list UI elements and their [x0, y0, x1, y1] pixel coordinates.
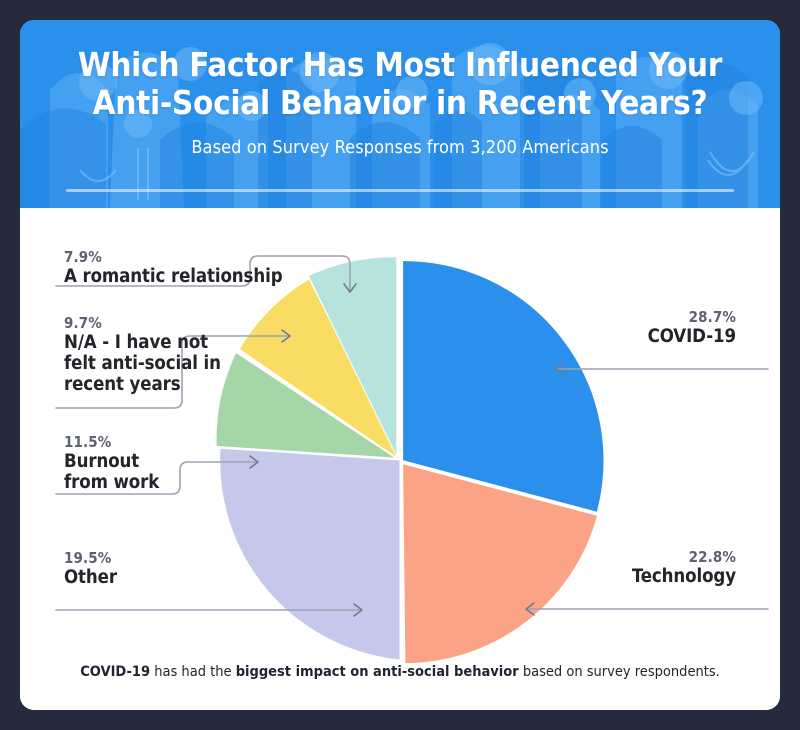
callout-na-pct: 9.7%	[64, 314, 221, 332]
footer-caption-part1: COVID-19	[80, 664, 150, 680]
callout-other-label: Other	[64, 567, 117, 588]
callout-technology[interactable]: 22.8% Technology	[436, 548, 736, 587]
footer-caption-part4: based on survey respondents.	[519, 664, 720, 680]
callout-romantic[interactable]: 7.9% A romantic relationship	[64, 248, 283, 287]
callout-covid[interactable]: 28.7% COVID-19	[436, 308, 736, 347]
callout-other[interactable]: 19.5% Other	[64, 549, 117, 588]
callout-burnout[interactable]: 11.5% Burnout from work	[64, 433, 159, 493]
callout-na-label: N/A - I have not felt anti-social in rec…	[64, 332, 221, 395]
callout-technology-label: Technology	[436, 566, 736, 587]
pie-slice-other[interactable]	[220, 448, 400, 660]
callout-na[interactable]: 9.7% N/A - I have not felt anti-social i…	[64, 314, 221, 395]
callout-covid-pct: 28.7%	[436, 308, 736, 326]
infographic-card: Which Factor Has Most Influenced Your An…	[20, 20, 780, 710]
footer-caption: COVID-19 has had the biggest impact on a…	[20, 663, 780, 681]
callout-burnout-pct: 11.5%	[64, 433, 159, 451]
page-title: Which Factor Has Most Influenced Your An…	[20, 46, 780, 122]
header-divider	[66, 189, 734, 192]
page-subtitle: Based on Survey Responses from 3,200 Ame…	[20, 137, 780, 158]
chart-body: 7.9% A romantic relationship 9.7% N/A - …	[20, 208, 780, 710]
callout-technology-pct: 22.8%	[436, 548, 736, 566]
callout-burnout-label: Burnout from work	[64, 451, 159, 493]
callout-covid-label: COVID-19	[436, 326, 736, 347]
header-banner: Which Factor Has Most Influenced Your An…	[20, 20, 780, 208]
callout-romantic-pct: 7.9%	[64, 248, 283, 266]
footer-caption-part3: biggest impact on anti-social behavior	[236, 664, 519, 680]
footer-caption-part2: has had the	[150, 664, 236, 680]
callout-other-pct: 19.5%	[64, 549, 117, 567]
callout-romantic-label: A romantic relationship	[64, 266, 283, 287]
